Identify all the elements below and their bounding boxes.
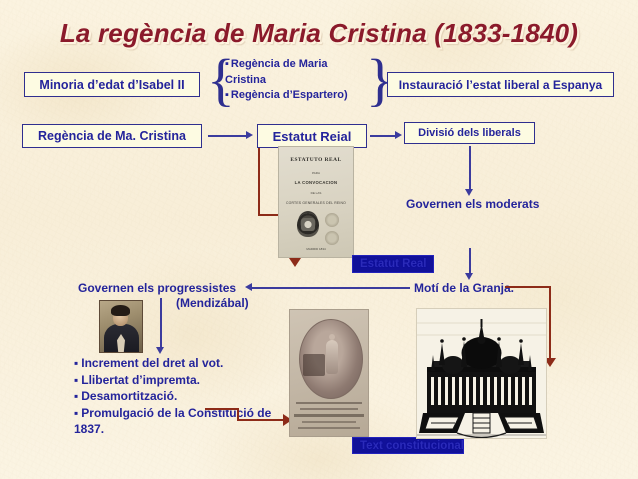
slide-canvas: La regència de Maria Cristina (1833-1840… <box>0 0 638 479</box>
estatuto-line-4: DE LAS <box>279 191 353 195</box>
brace-left-icon: { <box>207 55 223 111</box>
caption-estatut-real: Estatut Real <box>352 255 434 273</box>
estatuto-title-line: ESTATUTO REAL <box>279 157 353 163</box>
print-text-line-1 <box>296 402 362 404</box>
brace-item-1: Regència d’Espartero) <box>225 88 367 104</box>
box-minoria-label: Minoria d’edat d’Isabel II <box>39 78 184 92</box>
label-moti-granja: Motí de la Granja. <box>414 281 514 295</box>
brace-right-icon: } <box>366 55 382 111</box>
image-mendizabal-portrait <box>99 300 143 353</box>
box-estatut-reial: Estatut Reial <box>257 124 367 148</box>
brace-group: { Regència de Maria Cristina Regència d’… <box>207 55 382 111</box>
box-instauracio-label: Instauració l’estat liberal a Espanya <box>399 78 602 92</box>
brace-item-0: Regència de Maria Cristina <box>225 57 367 88</box>
medallion-icon-2 <box>325 231 339 245</box>
bullet-item-2: Desamortització. <box>74 388 289 405</box>
arrow-progressistes-to-bullets-icon <box>156 298 165 354</box>
label-governen-moderats: Governen els moderats <box>406 197 539 211</box>
caption-estatut-real-label: Estatut Real <box>360 258 426 270</box>
box-estatut-label: Estatut Reial <box>273 129 352 144</box>
portrait-hair <box>111 305 130 316</box>
label-mendizabal: (Mendizábal) <box>176 296 249 310</box>
arrow-moti-to-progressistes-icon <box>245 283 410 292</box>
estatuto-line-2: PARA <box>279 171 353 175</box>
image-constitucio-1837-print <box>289 309 369 437</box>
estatuto-line-5: CORTES GENERALES DEL REINO <box>279 201 353 205</box>
print-figure-queen <box>326 340 338 374</box>
print-text-line-2 <box>300 408 358 410</box>
caption-text-constitucional: Text constitucional <box>352 437 464 454</box>
estatuto-footer: MADRID 1834 <box>279 247 353 251</box>
granja-engraving-svg <box>417 309 546 438</box>
brace-items: Regència de Maria Cristina Regència d’Es… <box>225 57 367 104</box>
caption-text-constitucional-label: Text constitucional <box>360 440 464 452</box>
print-table-shape <box>303 354 325 376</box>
image-estatuto-real-document: ESTATUTO REAL PARA LA CONVOCACION DE LAS… <box>278 146 354 258</box>
page-title: La regència de Maria Cristina (1833-1840… <box>0 18 638 49</box>
arrow-moderats-to-moti-icon <box>465 248 474 280</box>
box-minoria-edat: Minoria d’edat d’Isabel II <box>24 72 200 97</box>
royal-seal-icon <box>297 213 319 237</box>
red-arrowhead-icon <box>289 258 301 267</box>
box-divisio-liberals: Divisió dels liberals <box>404 122 535 144</box>
bullet-item-0: Increment del dret al vot. <box>74 355 289 372</box>
box-instauracio-estat-liberal: Instauració l’estat liberal a Espanya <box>387 72 614 97</box>
box-regencia-maria-cristina: Regència de Ma. Cristina <box>22 124 202 148</box>
medallion-icon-1 <box>325 213 339 227</box>
box-regencia-label: Regència de Ma. Cristina <box>38 129 186 143</box>
print-text-line-5 <box>298 427 360 429</box>
arrow-regencia-to-estatut-icon <box>208 131 253 140</box>
label-governen-progressistes: Governen els progressistes <box>78 281 236 295</box>
bullet-item-1: Llibertat d’impremta. <box>74 372 289 389</box>
estatuto-line-3: LA CONVOCACION <box>279 180 353 185</box>
print-text-line-3 <box>294 414 364 417</box>
box-divisio-label: Divisió dels liberals <box>418 127 521 139</box>
arrow-divisio-to-moderats-icon <box>465 146 474 196</box>
red-connector-constitucio <box>205 408 295 430</box>
image-palau-la-granja <box>416 308 547 439</box>
arrow-estatut-to-divisio-icon <box>370 131 402 140</box>
print-text-line-4 <box>302 421 356 423</box>
